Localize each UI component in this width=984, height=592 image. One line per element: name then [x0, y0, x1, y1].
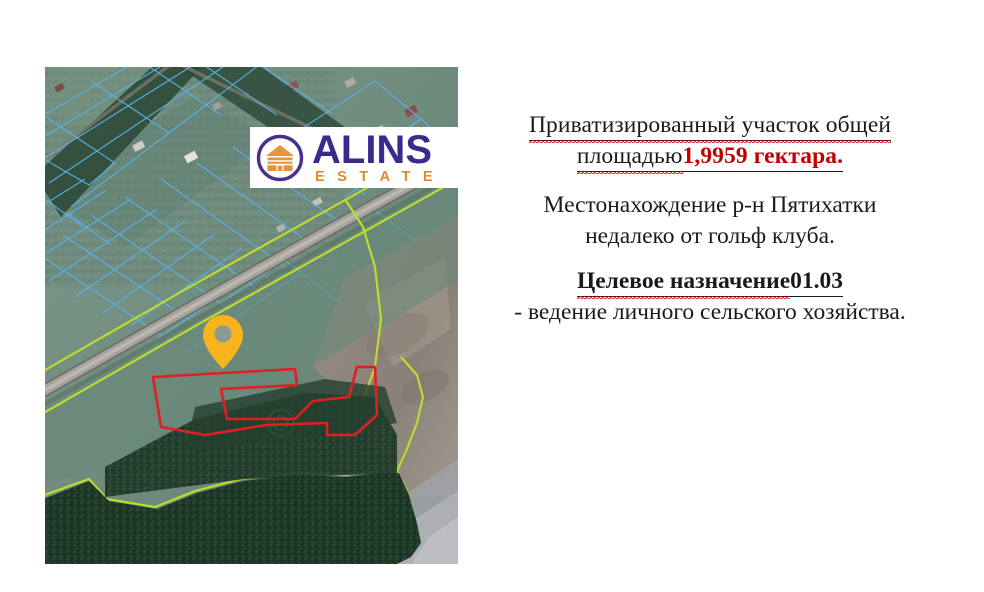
paragraph-location: Местонахождение р-н Пятихатки недалеко о… — [460, 190, 960, 252]
location-line1: Местонахождение р-н Пятихатки — [460, 190, 960, 221]
purpose-title: Целевое назначение — [577, 267, 790, 295]
area-value: 1,9959 гектара. — [683, 142, 844, 172]
description-text-panel: Приватизированный участок общей площадью… — [460, 110, 960, 328]
logo-primary-text: ALINS — [312, 131, 445, 169]
logo-secondary-text: ESTATE — [312, 170, 445, 185]
paragraph-area-line2: площадью 1,9959 гектара. — [460, 141, 960, 172]
area-line1-text: Приватизированный участок общей — [529, 111, 891, 139]
alins-estate-logo: ALINS ESTATE — [250, 127, 458, 188]
logo-wordmark: ALINS ESTATE — [312, 131, 445, 185]
purpose-line2: - ведение личного сельского хозяйства. — [460, 297, 960, 328]
slide-canvas: ALINS ESTATE Приватизированный участок о… — [0, 0, 984, 592]
location-line2: недалеко от гольф клуба. — [460, 221, 960, 252]
purpose-code: 01.03 — [790, 267, 843, 297]
paragraph-area-line1: Приватизированный участок общей — [460, 110, 960, 141]
purpose-line1: Целевое назначение 01.03 — [460, 266, 960, 297]
area-line2-prefix: площадью — [577, 142, 683, 170]
paragraph-purpose: Целевое назначение 01.03 - ведение лично… — [460, 266, 960, 328]
house-in-circle-icon — [255, 133, 305, 183]
paragraph-area: Приватизированный участок общей площадью… — [460, 110, 960, 172]
